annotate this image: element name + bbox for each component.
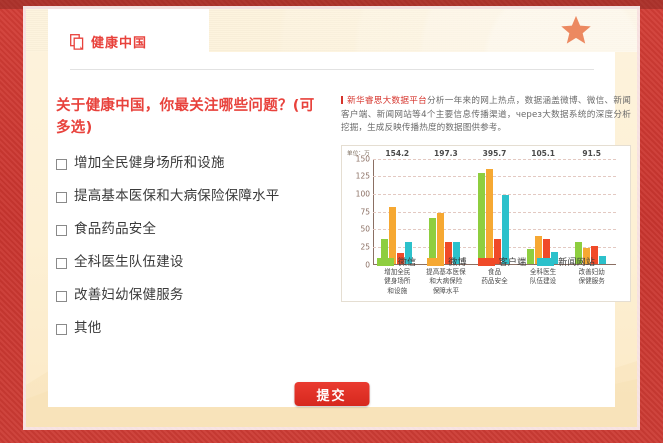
options-list: 增加全民健身场所和设施提高基本医保和大病保险保障水平食品药品安全全科医生队伍建设…: [56, 155, 324, 336]
document-copy-icon: [70, 34, 84, 50]
x-axis-label-line: 健身场所: [384, 277, 410, 287]
option-4[interactable]: 全科医生队伍建设: [56, 254, 324, 270]
x-axis-label: 增加全民健身场所和设施: [384, 268, 410, 297]
x-axis-label-line: 提高基本医保: [426, 268, 466, 278]
brand-label: 健康中国: [91, 32, 147, 51]
checkbox-icon[interactable]: [56, 192, 67, 203]
y-tick-label: 75: [360, 207, 370, 216]
chart-plot-area: 0255075100125150154.2增加全民健身场所和设施197.3提高基…: [373, 159, 616, 265]
option-label: 增加全民健身场所和设施: [74, 155, 225, 171]
question-column: 关于健康中国，你最关注哪些问题？(可多选) 增加全民健身场所和设施提高基本医保和…: [56, 95, 324, 353]
panel-source: 新华睿思大数据平台: [347, 96, 427, 106]
legend-swatch: [478, 258, 495, 266]
checkbox-icon[interactable]: [56, 159, 67, 170]
question-title: 关于健康中国，你最关注哪些问题？(可多选): [56, 95, 324, 139]
x-axis-label-line: 和大病保险: [426, 277, 466, 287]
legend-label: 新闻网站: [558, 255, 595, 268]
x-axis-label-line: 药品安全: [481, 277, 507, 287]
x-axis-label: 全科医生队伍建设: [530, 268, 556, 287]
x-axis-label-line: 队伍建设: [530, 277, 556, 287]
bar-group-total-label: 154.2: [385, 149, 409, 158]
y-tick-label: 50: [360, 225, 370, 234]
panel-description: 新华睿思大数据平台分析一年来的网上热点，数据涵盖微博、微信、新闻客户端、新闻网站…: [341, 95, 631, 136]
bar-group-total-label: 91.5: [582, 149, 601, 158]
legend-swatch: [377, 258, 394, 266]
x-axis-label-line: 食品: [481, 268, 507, 278]
bar-chart: 单位：万 0255075100125150154.2增加全民健身场所和设施197…: [341, 145, 631, 302]
submit-button[interactable]: 提交: [294, 382, 369, 406]
option-label: 提高基本医保和大病保险保障水平: [74, 188, 280, 204]
brand: 健康中国: [70, 32, 147, 51]
y-tick-label: 150: [356, 154, 370, 163]
divider: [70, 69, 594, 70]
bar-group: [478, 169, 509, 264]
data-panel: 新华睿思大数据平台分析一年来的网上热点，数据涵盖微博、微信、新闻客户端、新闻网站…: [341, 95, 631, 302]
bar-group-total-label: 395.7: [483, 149, 507, 158]
legend-item: 微博: [427, 255, 466, 268]
option-label: 其他: [74, 320, 101, 336]
checkbox-icon[interactable]: [56, 258, 67, 269]
option-2[interactable]: 提高基本医保和大病保险保障水平: [56, 188, 324, 204]
x-axis-label: 提高基本医保和大病保险保障水平: [426, 268, 466, 297]
legend-label: 微信: [398, 255, 416, 268]
x-axis-label-line: 保障水平: [426, 287, 466, 297]
legend-item: 微信: [377, 255, 416, 268]
option-3[interactable]: 食品药品安全: [56, 221, 324, 237]
x-axis-label-line: 和设施: [384, 287, 410, 297]
checkbox-icon[interactable]: [56, 291, 67, 302]
x-axis-label-line: 增加全民: [384, 268, 410, 278]
option-label: 食品药品安全: [74, 221, 156, 237]
legend-swatch: [427, 258, 444, 266]
option-6[interactable]: 其他: [56, 320, 324, 336]
checkbox-icon[interactable]: [56, 324, 67, 335]
y-tick-label: 100: [356, 189, 370, 198]
bar-group-total-label: 197.3: [434, 149, 458, 158]
y-tick-label: 25: [360, 242, 370, 251]
option-label: 全科医生队伍建设: [74, 254, 184, 270]
gridline: [373, 159, 616, 160]
header-strip: [0, 0, 663, 9]
star-icon: [559, 13, 593, 47]
option-1[interactable]: 增加全民健身场所和设施: [56, 155, 324, 171]
bar: [478, 173, 485, 263]
x-axis-label: 改善妇幼保健服务: [579, 268, 605, 287]
x-axis-label: 食品药品安全: [481, 268, 507, 287]
legend-label: 客户端: [499, 255, 527, 268]
option-label: 改善妇幼保健服务: [74, 287, 184, 303]
y-tick-label: 125: [356, 172, 370, 181]
checkbox-icon[interactable]: [56, 225, 67, 236]
x-axis-label-line: 改善妇幼: [579, 268, 605, 278]
survey-page: 健康中国 关于健康中国，你最关注哪些问题？(可多选) 增加全民健身场所和设施提高…: [0, 0, 663, 443]
x-axis-label-line: 全科医生: [530, 268, 556, 278]
option-5[interactable]: 改善妇幼保健服务: [56, 287, 324, 303]
accent-bar: [341, 96, 343, 104]
bar-group-total-label: 105.1: [531, 149, 555, 158]
bar: [486, 169, 493, 264]
legend-label: 微博: [448, 255, 466, 268]
bar: [502, 195, 509, 264]
legend-item: 客户端: [478, 255, 527, 268]
chart-legend: 微信微博客户端新闻网站: [341, 255, 631, 268]
x-axis-label-line: 保健服务: [579, 277, 605, 287]
legend-item: 新闻网站: [537, 255, 595, 268]
content-sheet: 健康中国 关于健康中国，你最关注哪些问题？(可多选) 增加全民健身场所和设施提高…: [26, 9, 637, 427]
legend-swatch: [537, 258, 554, 266]
